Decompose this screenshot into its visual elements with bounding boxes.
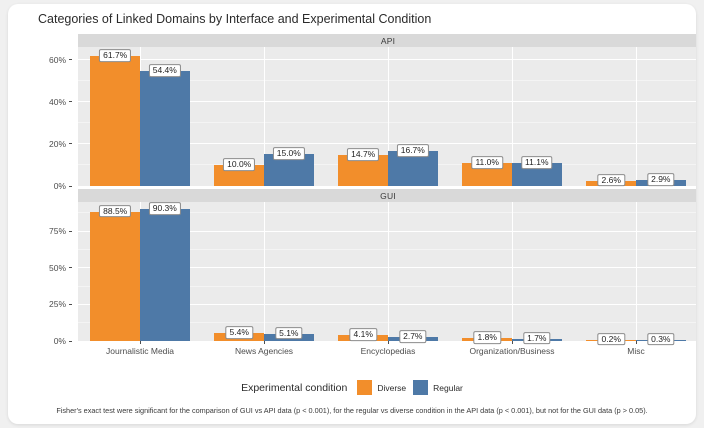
bar[interactable] <box>140 209 190 341</box>
bar-value-label: 90.3% <box>149 202 181 215</box>
x-axis-tick-label: Journalistic Media <box>106 346 174 356</box>
bar-value-label: 11.1% <box>521 156 552 169</box>
y-axis-api: 0%20%40%60% <box>8 47 74 186</box>
x-axis-tick-label: Encyclopedias <box>361 346 416 356</box>
legend-swatch-diverse <box>357 380 372 395</box>
legend-item-regular[interactable]: Regular <box>413 380 463 395</box>
gridline-vertical <box>264 202 265 341</box>
y-axis-tick-mark <box>69 304 72 305</box>
y-axis-tick-label: 20% <box>49 139 66 149</box>
x-axis-tick-label: Organization/Business <box>469 346 554 356</box>
bar-value-label: 61.7% <box>99 49 131 62</box>
bar-value-label: 2.9% <box>647 173 674 186</box>
y-axis-tick-mark <box>69 267 72 268</box>
bar[interactable] <box>90 212 140 341</box>
bar-value-label: 4.1% <box>350 328 377 341</box>
y-axis-tick-mark <box>69 143 72 144</box>
bar-value-label: 2.6% <box>598 174 625 187</box>
y-axis-tick-mark <box>69 101 72 102</box>
legend-label-diverse: Diverse <box>377 383 406 393</box>
plot-area-gui: 88.5%5.4%4.1%1.8%0.2%90.3%5.1%2.7%1.7%0.… <box>78 202 696 341</box>
facet-panel-api: API 61.7%10.0%14.7%11.0%2.6%54.4%15.0%16… <box>78 34 696 186</box>
bar-value-label: 5.4% <box>226 326 253 339</box>
y-axis-tick-label: 60% <box>49 55 66 65</box>
y-axis-tick-label: 40% <box>49 97 66 107</box>
figure-caption: Fisher's exact test were significant for… <box>8 406 696 415</box>
bar-value-label: 54.4% <box>149 65 181 78</box>
bar-value-label: 16.7% <box>397 144 429 157</box>
bar-value-label: 88.5% <box>99 205 131 218</box>
y-axis-tick-label: 0% <box>54 336 66 346</box>
x-axis-tick-label: News Agencies <box>235 346 293 356</box>
x-axis-tick-mark <box>140 341 141 344</box>
x-axis-tick-mark <box>388 341 389 344</box>
gridline-vertical <box>388 202 389 341</box>
bar[interactable] <box>140 71 190 186</box>
x-axis-tick-mark <box>636 341 637 344</box>
y-axis-tick-label: 25% <box>49 299 66 309</box>
bar-value-label: 15.0% <box>273 147 305 160</box>
y-axis-tick-mark <box>69 186 72 187</box>
legend-title: Experimental condition <box>241 382 347 394</box>
x-axis-tick-mark <box>264 341 265 344</box>
facet-strip-label: API <box>381 36 395 46</box>
chart-card: Categories of Linked Domains by Interfac… <box>8 4 696 424</box>
gridline-vertical <box>512 202 513 341</box>
bar-value-label: 5.1% <box>275 327 302 340</box>
y-axis-tick-label: 0% <box>54 181 66 191</box>
y-axis-tick-label: 50% <box>49 263 66 273</box>
x-axis-tick-mark <box>512 341 513 344</box>
bar-value-label: 14.7% <box>347 148 379 161</box>
y-axis-tick-mark <box>69 341 72 342</box>
bar-value-label: 11.0% <box>471 156 502 169</box>
y-axis-tick-mark <box>69 231 72 232</box>
facet-panel-gui: GUI 88.5%5.4%4.1%1.8%0.2%90.3%5.1%2.7%1.… <box>78 189 696 341</box>
x-axis: Journalistic MediaNews AgenciesEncyclope… <box>78 341 696 363</box>
bar-value-label: 10.0% <box>223 158 255 171</box>
page-title: Categories of Linked Domains by Interfac… <box>38 12 431 26</box>
legend-swatch-regular <box>413 380 428 395</box>
bar[interactable] <box>90 56 140 186</box>
y-axis-tick-label: 75% <box>49 226 66 236</box>
gridline-vertical <box>636 47 637 186</box>
facet-strip-gui: GUI <box>78 189 696 202</box>
gridline-vertical <box>636 202 637 341</box>
facet-strip-label: GUI <box>380 191 396 201</box>
screenshot-root: Categories of Linked Domains by Interfac… <box>0 0 704 428</box>
y-axis-tick-mark <box>69 59 72 60</box>
x-axis-tick-label: Misc <box>627 346 644 356</box>
legend-item-diverse[interactable]: Diverse <box>357 380 406 395</box>
legend: Experimental condition Diverse Regular <box>8 380 696 395</box>
legend-label-regular: Regular <box>433 383 463 393</box>
facet-strip-api: API <box>78 34 696 47</box>
y-axis-gui: 0%25%50%75% <box>8 202 74 341</box>
plot-area-api: 61.7%10.0%14.7%11.0%2.6%54.4%15.0%16.7%1… <box>78 47 696 186</box>
